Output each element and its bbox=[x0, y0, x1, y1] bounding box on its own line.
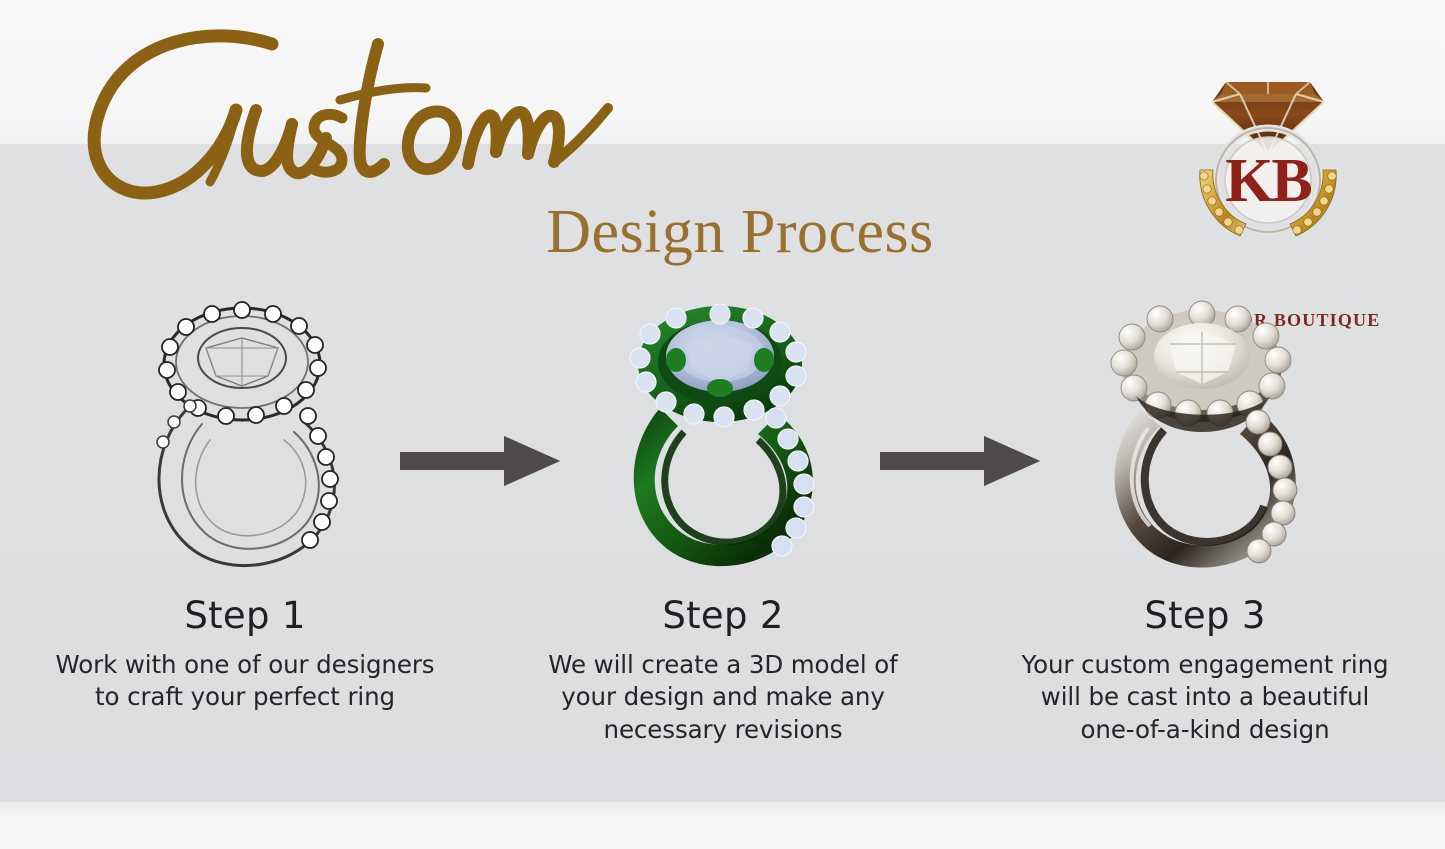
brand-logo: KB KOHINOOR BOUTIQUE bbox=[1148, 58, 1388, 284]
custom-design-process-graphic: Design Process bbox=[0, 0, 1445, 849]
diamond-ring-crest-icon: KB bbox=[1174, 58, 1362, 244]
step-1-description: Work with one of our designers to craft … bbox=[25, 649, 465, 714]
step-3: Step 3 Your custom engagement ring will … bbox=[985, 300, 1425, 800]
step-3-title: Step 3 bbox=[985, 594, 1425, 637]
steps-row: Step 1 Work with one of our designers to… bbox=[0, 300, 1445, 800]
step-2-description: We will create a 3D model of your design… bbox=[503, 649, 943, 746]
svg-text:KB: KB bbox=[1225, 147, 1311, 215]
step-3-description: Your custom engagement ring will be cast… bbox=[985, 649, 1425, 746]
step-1-title: Step 1 bbox=[25, 594, 465, 637]
background-band-bottom bbox=[0, 802, 1445, 849]
step-2: Step 2 We will create a 3D model of your… bbox=[503, 300, 943, 800]
arrow-right-icon bbox=[876, 432, 1044, 490]
step-1: Step 1 Work with one of our designers to… bbox=[25, 300, 465, 800]
arrow-right-icon bbox=[396, 432, 564, 490]
ring-finished-photo-illustration bbox=[985, 300, 1425, 582]
headline-design-process: Design Process bbox=[490, 201, 990, 263]
step-2-title: Step 2 bbox=[503, 594, 943, 637]
